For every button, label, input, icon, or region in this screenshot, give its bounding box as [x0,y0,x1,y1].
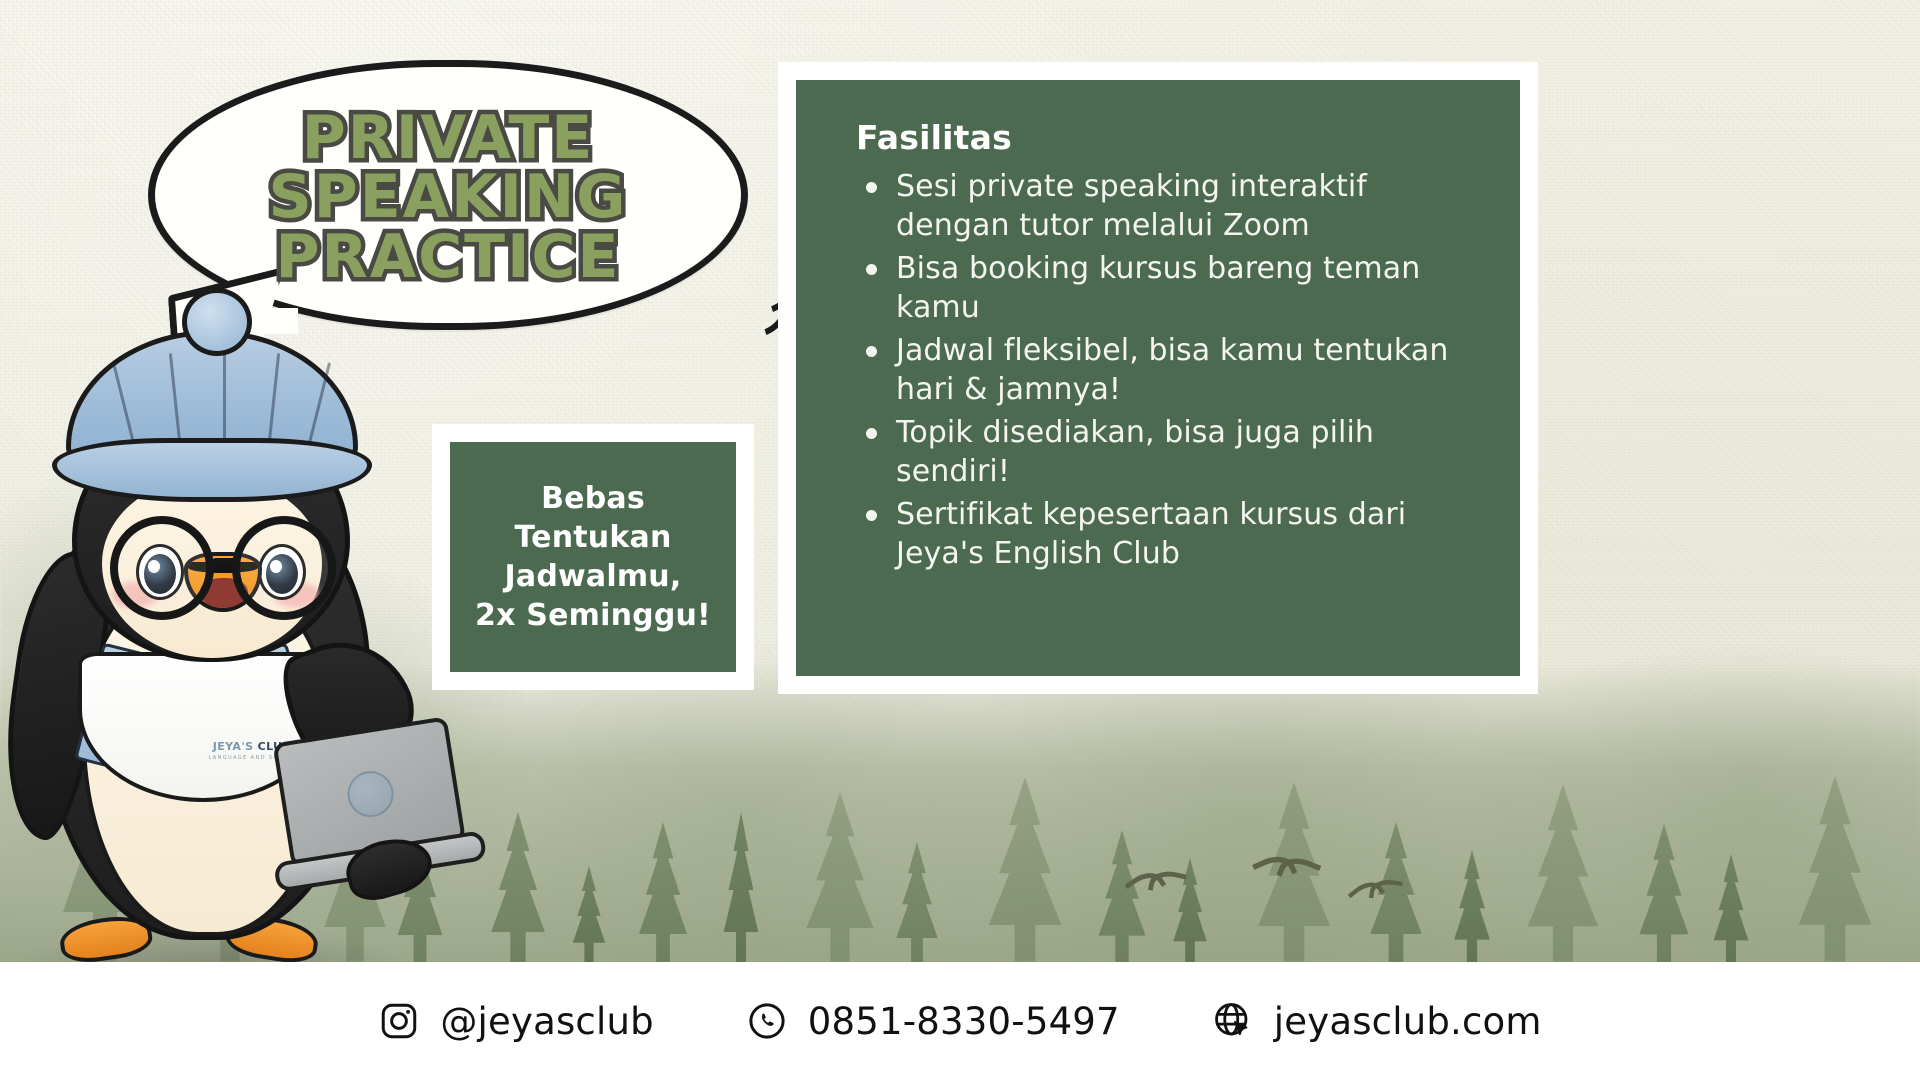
globe-cursor-icon [1212,1000,1254,1042]
instagram-icon [378,1000,420,1042]
headline-line-1: PRIVATE [302,110,595,168]
bird-icon [1254,855,1315,888]
whatsapp-number: 0851-8330-5497 [808,1000,1120,1043]
contact-website[interactable]: jeyasclub.com [1212,1000,1542,1043]
facilities-list: Sesi private speaking interaktif dengan … [858,167,1490,573]
footer-contact-bar: @jeyasclub 0851-8330-5497 jeyasclub.com [0,962,1920,1080]
list-item: Topik disediakan, bisa juga pilih sendir… [858,413,1490,491]
poster-canvas: PRIVATE SPEAKING PRACTICE Fasilitas Sesi… [0,0,1920,1080]
list-item: Bisa booking kursus bareng teman kamu [858,249,1490,327]
schedule-text: Bebas Tentukan Jadwalmu, 2x Seminggu! [475,479,711,635]
glasses-lens-left [110,516,214,620]
glasses-bridge [212,558,240,566]
instagram-handle: @jeyasclub [440,1000,653,1043]
laptop-screen-logo [344,768,397,821]
facilities-panel-frame: Fasilitas Sesi private speaking interakt… [778,62,1538,694]
list-item: Sertifikat kepesertaan kursus dari Jeya'… [858,495,1490,573]
schedule-panel-frame: Bebas Tentukan Jadwalmu, 2x Seminggu! [432,424,754,690]
facilities-panel: Fasilitas Sesi private speaking interakt… [796,80,1520,676]
headline-text-stack: PRIVATE SPEAKING PRACTICE [148,60,748,330]
website-url: jeyasclub.com [1274,1000,1542,1043]
headline-line-2: SPEAKING [269,169,628,227]
headline-speech-bubble: PRIVATE SPEAKING PRACTICE [148,60,748,330]
list-item: Sesi private speaking interaktif dengan … [858,167,1490,245]
glasses-lens-right [232,516,336,620]
club-logo-name-grey: JEYA'S [213,740,254,753]
contact-whatsapp[interactable]: 0851-8330-5497 [746,1000,1120,1043]
whatsapp-icon [746,1000,788,1042]
schedule-panel: Bebas Tentukan Jadwalmu, 2x Seminggu! [450,442,736,672]
list-item: Jadwal fleksibel, bisa kamu tentukan har… [858,331,1490,409]
penguin-beanie-brim [52,438,372,502]
headline-line-3: PRACTICE [276,229,621,287]
facilities-title: Fasilitas [856,118,1490,157]
penguin-mascot: JEYA'S CLUB LANGUAGE AND SOCIAL [16,300,446,1060]
contact-instagram[interactable]: @jeyasclub [378,1000,653,1043]
penguin-beanie-pompom [182,288,252,356]
